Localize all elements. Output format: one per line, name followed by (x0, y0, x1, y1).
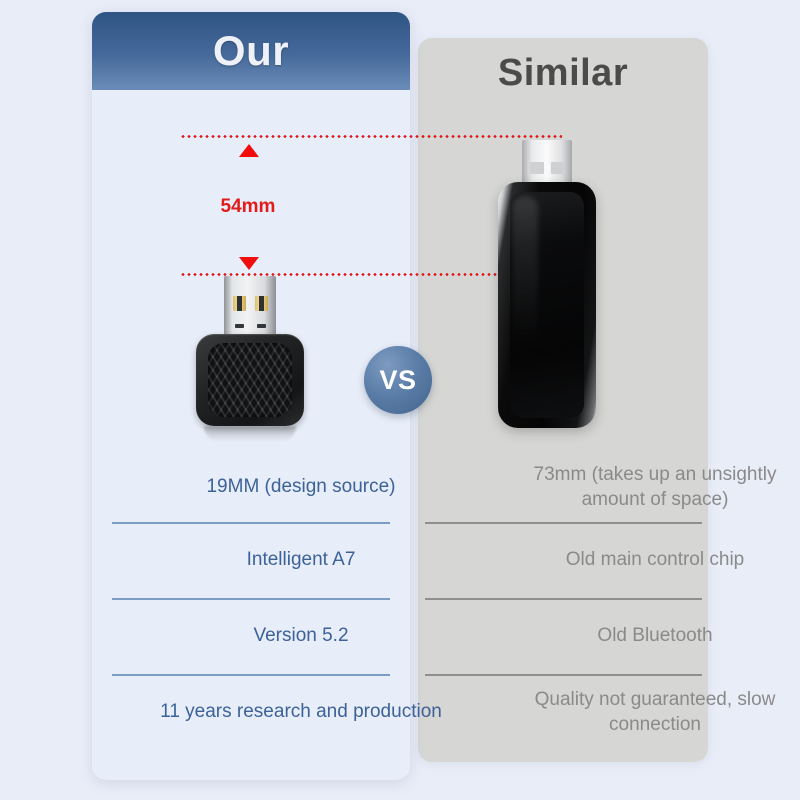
similar-cell: Quality not guaranteed, slow connection (510, 674, 800, 750)
usb-texture-pattern (208, 343, 292, 417)
row-divider-right (425, 598, 702, 600)
our-cell: Intelligent A7 (92, 522, 502, 598)
row-divider-right (425, 522, 702, 524)
row-divider-left (112, 522, 390, 524)
usb-gloss-highlight (512, 196, 538, 346)
usb-notch (235, 324, 244, 328)
row-divider-left (112, 598, 390, 600)
table-row: 11 years research and production Quality… (0, 674, 800, 750)
comparison-table: 19MM (design source) 73mm (takes up an u… (0, 452, 800, 750)
usb-reflection (204, 426, 296, 442)
usb-contact-pin (255, 296, 268, 311)
our-cell: 19MM (design source) (92, 452, 502, 522)
usb-body-large (498, 182, 596, 428)
measurement-label: 54mm (188, 196, 308, 218)
triangle-up-icon (239, 144, 259, 157)
usb-contact-pin (551, 162, 565, 174)
our-panel-title: Our (213, 27, 289, 75)
table-row: 19MM (design source) 73mm (takes up an u… (0, 452, 800, 522)
usb-contact-pin (233, 296, 246, 311)
our-cell: 11 years research and production (92, 674, 502, 750)
similar-usb-device (492, 140, 602, 428)
similar-panel-title: Similar (418, 52, 708, 95)
similar-cell: Old main control chip (510, 522, 800, 598)
table-row: Intelligent A7 Old main control chip (0, 522, 800, 598)
row-divider-left (112, 674, 390, 676)
measurement-line-top (180, 135, 562, 138)
comparison-infographic: Similar Our 54mm (0, 0, 800, 800)
similar-cell: 73mm (takes up an unsightly amount of sp… (510, 452, 800, 522)
usb-body-small (196, 334, 304, 426)
usb-notch (257, 324, 266, 328)
our-panel-header: Our (92, 12, 410, 90)
our-usb-device (196, 276, 304, 441)
table-row: Version 5.2 Old Bluetooth (0, 598, 800, 674)
row-divider-right (425, 674, 702, 676)
similar-cell: Old Bluetooth (510, 598, 800, 674)
vs-badge: VS (364, 346, 432, 414)
usb-contact-pin (530, 162, 544, 174)
triangle-down-icon (239, 257, 259, 270)
our-cell: Version 5.2 (92, 598, 502, 674)
vs-badge-label: VS (379, 365, 416, 396)
